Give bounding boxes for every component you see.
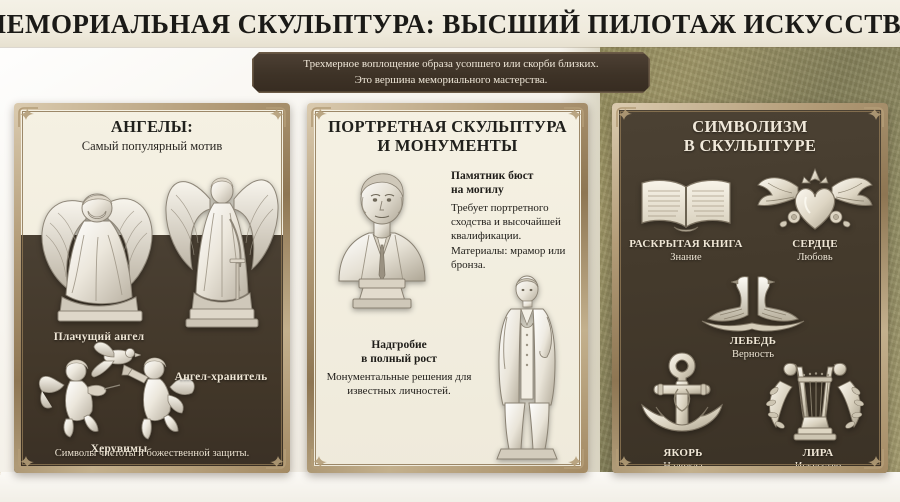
panel-symbols-title: СИМВОЛИЗМ В СКУЛЬПТУРЕ [612, 103, 888, 156]
infographic-root: МЕМОРИАЛЬНАЯ СКУЛЬПТУРА: ВЫСШИЙ ПИЛОТАЖ … [0, 0, 900, 502]
full-figure-statue [475, 273, 579, 461]
bust-heading-line-1: Памятник бюст [451, 169, 579, 183]
panel-portrait-title: ПОРТРЕТНАЯ СКУЛЬПТУРА И МОНУМЕНТЫ [307, 103, 588, 156]
symbol-meaning-heart: Любовь [752, 252, 878, 263]
symbol-meaning-swan: Верность [686, 349, 820, 360]
subtitle-line-2: Это вершина мемориального мастерства. [355, 73, 548, 88]
panel-portrait-title-line-2: И МОНУМЕНТЫ [307, 136, 588, 155]
bust-sculpture [319, 163, 445, 309]
symbol-name-swan: ЛЕБЕДЬ [686, 335, 820, 347]
symbol-name-lyre: ЛИРА [758, 447, 878, 459]
anchor-icon [634, 349, 730, 445]
panel-symbols-title-line-1: СИМВОЛИЗМ [612, 117, 888, 136]
panel-symbols-title-line-2: В СКУЛЬПТУРЕ [612, 136, 888, 155]
panel-portrait-title-line-1: ПОРТРЕТНАЯ СКУЛЬПТУРА [307, 117, 588, 136]
guardian-angel-statue [164, 147, 280, 347]
subtitle-plaque: Трехмерное воплощение образа усопшего ил… [252, 52, 650, 93]
symbol-meaning-anchor: Надежда [624, 461, 742, 472]
full-figure-description-block: Надгробие в полный рост Монументальные р… [319, 338, 479, 398]
symbol-name-book: РАСКРЫТАЯ КНИГА [616, 238, 756, 250]
full-figure-heading-line-1: Надгробие [319, 338, 479, 352]
cherubs-statue [36, 335, 201, 445]
bust-description-block: Памятник бюст на могилу Требует портретн… [451, 169, 579, 272]
weeping-angel-statue [38, 161, 158, 331]
bust-body-text: Требует портретного сходства и высочайше… [451, 201, 579, 272]
panel-portrait-sculpture[interactable]: ПОРТРЕТНАЯ СКУЛЬПТУРА И МОНУМЕНТЫ [307, 103, 588, 473]
page-title: МЕМОРИАЛЬНАЯ СКУЛЬПТУРА: ВЫСШИЙ ПИЛОТАЖ … [0, 4, 900, 44]
label-weeping-angel: Плачущий ангел [24, 331, 174, 343]
subtitle-line-1: Трехмерное воплощение образа усопшего ил… [303, 57, 598, 72]
symbol-meaning-lyre: Искусство [758, 461, 878, 472]
swans-icon [694, 271, 812, 333]
lyre-icon [760, 347, 870, 445]
winged-heart-icon [756, 163, 874, 237]
symbol-name-anchor: ЯКОРЬ [624, 447, 742, 459]
open-book-icon [634, 171, 738, 235]
full-figure-heading: Надгробие в полный рост [319, 338, 479, 367]
bust-heading-line-2: на могилу [451, 183, 579, 197]
panel-angels-footnote: Символы чистоты и божественной защиты. [14, 448, 290, 459]
symbol-name-heart: СЕРДЦЕ [752, 238, 878, 250]
panel-angels[interactable]: АНГЕЛЫ: Самый популярный мотив [14, 103, 290, 473]
bust-heading: Памятник бюст на могилу [451, 169, 579, 198]
symbol-meaning-book: Знание [616, 252, 756, 263]
full-figure-heading-line-2: в полный рост [319, 352, 479, 366]
label-guardian-angel: Ангел-хранитель [152, 371, 290, 383]
panel-angels-title: АНГЕЛЫ: [14, 103, 290, 136]
full-figure-body-text: Монументальные решения для известных лич… [319, 370, 479, 399]
bottom-marble-strip [0, 472, 900, 502]
panel-symbolism[interactable]: СИМВОЛИЗМ В СКУЛЬПТУРЕ РАС [612, 103, 888, 473]
panel-angels-subtitle: Самый популярный мотив [14, 139, 290, 154]
